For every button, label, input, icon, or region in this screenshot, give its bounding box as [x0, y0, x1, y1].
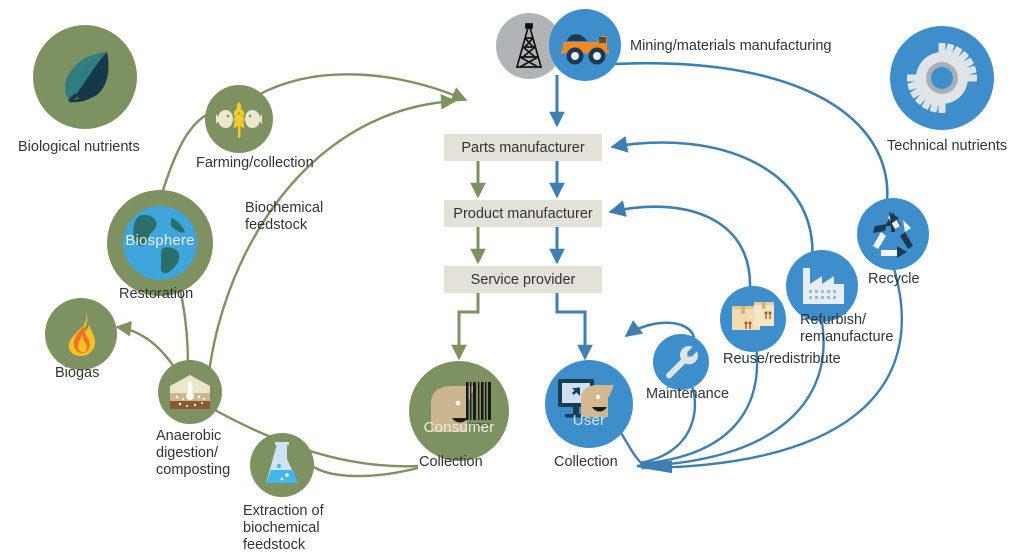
wire-farming-to-parts	[258, 74, 466, 100]
farming-collection-circle[interactable]	[205, 85, 273, 153]
user-circle[interactable]: User	[545, 360, 633, 448]
mining-materials-label: Mining/materials manufacturing	[630, 38, 831, 55]
anaerobic-digestion-label: Anaerobic digestion/ composting	[156, 428, 230, 479]
wheat-fish-icon	[214, 94, 264, 144]
oil-derrick-icon	[512, 23, 546, 69]
wire-refurbish-to-parts	[612, 143, 812, 262]
wire-anaerobic-to-biogas	[117, 327, 176, 370]
dump-truck-icon	[559, 24, 611, 66]
technical-nutrients-circle[interactable]	[890, 26, 994, 130]
recycle-label: Recycle	[868, 271, 920, 288]
wire-service-to-user	[557, 293, 585, 358]
svg-text:12 0008 9: 12 0008 9	[469, 422, 490, 427]
biogas-label: Biogas	[55, 365, 99, 382]
reuse-redistribute-circle[interactable]	[720, 286, 786, 352]
wire-collection-to-extraction	[312, 466, 418, 476]
restoration-label: Restoration	[119, 286, 193, 303]
product-manufacturer-label: Product manufacturer	[453, 206, 592, 222]
flame-icon	[60, 311, 102, 357]
wrench-icon	[663, 344, 699, 380]
maintenance-label: Maintenance	[646, 386, 729, 403]
circular-economy-diagram: Biological nutrients	[0, 0, 1024, 553]
gear-icon	[905, 41, 979, 115]
service-provider-box[interactable]: Service provider	[444, 266, 602, 293]
user-monitor-icon	[556, 376, 622, 432]
compost-bin-icon	[168, 372, 212, 412]
reuse-redistribute-label: Reuse/redistribute	[723, 351, 841, 368]
farming-collection-label: Farming/collection	[196, 155, 314, 172]
parts-manufacturer-box[interactable]: Parts manufacturer	[444, 134, 602, 161]
refurbish-remanufacture-label: Refurbish/ remanufacture	[800, 312, 894, 346]
recycle-circle[interactable]	[857, 198, 929, 270]
consumer-barcode-icon: 12 0008 9	[423, 380, 495, 442]
wire-service-to-consumer	[459, 293, 478, 358]
user-collection-label: Collection	[554, 454, 618, 471]
biological-nutrients-label: Biological nutrients	[18, 139, 140, 156]
factory-icon	[798, 264, 846, 308]
collection-convergence-arrowhead	[637, 462, 672, 472]
parts-manufacturer-label: Parts manufacturer	[461, 140, 584, 156]
wire-recycle-to-mining	[583, 63, 887, 210]
service-provider-label: Service provider	[471, 272, 576, 288]
flask-icon	[262, 442, 302, 488]
wire-reuse-to-product	[610, 207, 750, 288]
biological-nutrients-circle[interactable]	[33, 25, 137, 129]
biochemical-feedstock-label: Biochemical feedstock	[245, 200, 323, 234]
globe-icon	[119, 202, 201, 284]
anaerobic-digestion-circle[interactable]	[158, 360, 222, 424]
extraction-label: Extraction of biochemical feedstock	[243, 503, 324, 553]
dump-truck-circle[interactable]	[549, 9, 621, 81]
leaf-icon	[52, 44, 118, 110]
maintenance-circle[interactable]	[653, 334, 709, 390]
consumer-circle[interactable]: 12 0008 9 Consumer	[409, 361, 509, 461]
biosphere-circle[interactable]: Biosphere	[107, 190, 213, 296]
consumer-collection-label: Collection	[419, 454, 483, 471]
product-manufacturer-box[interactable]: Product manufacturer	[444, 200, 602, 227]
recycle-icon	[867, 210, 919, 258]
technical-nutrients-label: Technical nutrients	[887, 138, 1007, 155]
cardboard-box-icon	[730, 298, 776, 340]
extraction-circle[interactable]	[250, 433, 314, 497]
biogas-circle[interactable]	[45, 298, 117, 370]
